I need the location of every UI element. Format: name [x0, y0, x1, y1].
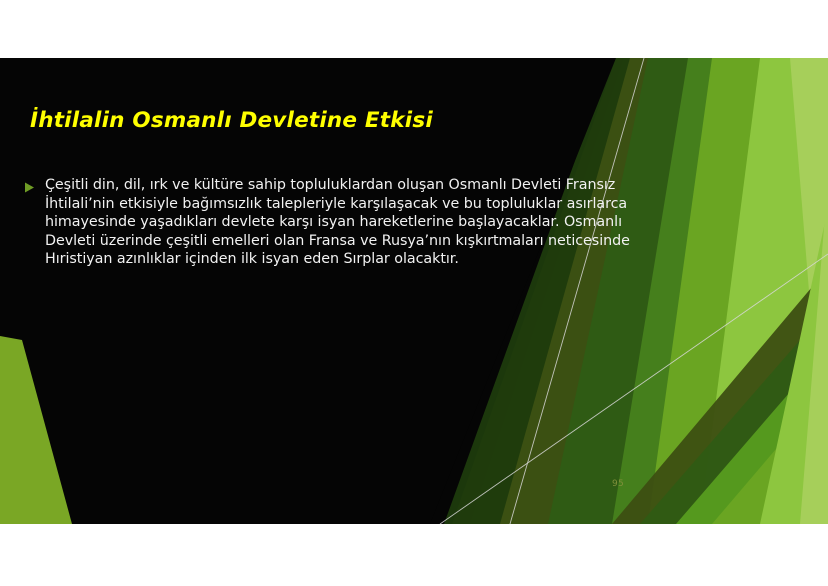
- deco-shape-lower-bright2: [612, 388, 828, 524]
- slide-canvas: İhtilalin Osmanlı Devletine Etkisi Çeşit…: [0, 58, 828, 524]
- accent-line-shallow: [440, 254, 828, 524]
- slide-title: İhtilalin Osmanlı Devletine Etkisi: [30, 108, 590, 134]
- deco-shape-lower-green: [560, 348, 828, 524]
- slide-page: İhtilalin Osmanlı Devletine Etkisi Çeşit…: [0, 0, 828, 586]
- deco-shape-light-right: [612, 58, 828, 524]
- deco-shape-bottom-left-wedge: [0, 336, 72, 524]
- deco-shape-lower-dark: [520, 308, 828, 524]
- deco-shape-lower-light: [684, 208, 828, 524]
- deco-shape-lower-mid: [478, 268, 828, 524]
- triangle-right-icon: [24, 182, 40, 193]
- deco-shape-lower-pale: [744, 178, 828, 524]
- page-number: 95: [612, 479, 624, 489]
- body-bullet-list: Çeşitli din, dil, ırk ve kültüre sahip t…: [24, 176, 644, 269]
- body-paragraph: Çeşitli din, dil, ırk ve kültüre sahip t…: [45, 176, 644, 269]
- deco-shape-pale-right: [700, 58, 828, 524]
